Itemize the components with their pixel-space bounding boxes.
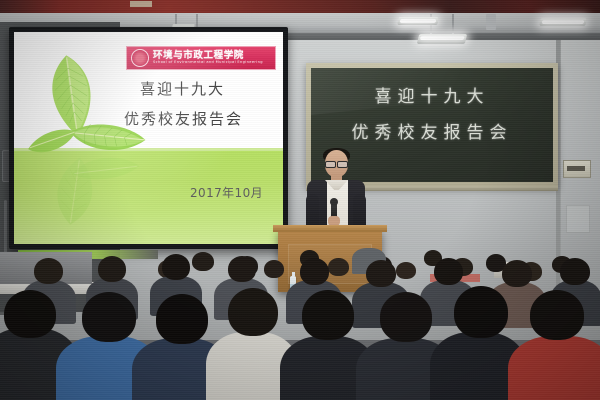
- fluorescent-lamp-4: [539, 18, 586, 26]
- banner-english-text: School of Environmental and Municipal En…: [153, 61, 263, 65]
- fluorescent-lamp-3: [397, 17, 438, 25]
- audience-head-front: [156, 294, 208, 344]
- lecture-hall-photo: 环境与市政工程学院 School of Environmental and Mu…: [0, 0, 600, 400]
- projector-screen-frame: 环境与市政工程学院 School of Environmental and Mu…: [9, 27, 288, 249]
- audience-head: [228, 256, 256, 282]
- audience-head-front: [380, 292, 432, 342]
- audience-head: [328, 258, 349, 276]
- student-audience: [0, 232, 600, 400]
- slide-title-line-1: 喜迎十九大: [140, 78, 274, 99]
- audience-head: [396, 262, 416, 279]
- wall-switch-box: [563, 160, 591, 178]
- slide-date: 2017年10月: [190, 184, 263, 201]
- audience-head-front: [530, 290, 584, 340]
- ceiling-mount: [486, 14, 496, 30]
- audience-head: [264, 260, 284, 278]
- blackboard-line-2: 优秀校友报告会: [311, 118, 553, 143]
- school-banner: 环境与市政工程学院 School of Environmental and Mu…: [126, 46, 276, 70]
- audience-head: [560, 258, 590, 285]
- audience-head-front: [454, 286, 508, 338]
- audience-head-front: [228, 288, 278, 336]
- slide-title-line-2: 优秀校友报告会: [124, 108, 274, 129]
- audience-head: [366, 260, 396, 287]
- slide-title: 喜迎十九大 优秀校友报告会: [124, 78, 274, 129]
- projector-screen: 环境与市政工程学院 School of Environmental and Mu…: [14, 32, 283, 244]
- audience-head: [300, 258, 329, 285]
- blackboard-line-1: 喜迎十九大: [311, 82, 553, 107]
- audience-head-front: [302, 290, 354, 340]
- audience-head: [502, 260, 532, 287]
- university-seal-icon: [131, 49, 149, 67]
- eyeglasses-icon: [325, 161, 348, 166]
- lamp-rod-4: [452, 14, 454, 36]
- audience-shoulder-front: [508, 336, 600, 400]
- audience-head-front: [4, 290, 56, 338]
- audience-head: [98, 256, 126, 282]
- audience-head: [34, 258, 63, 284]
- ceiling-red-strip: [0, 0, 600, 14]
- audience-head-front: [82, 292, 136, 342]
- wall-notice: [566, 205, 590, 233]
- fluorescent-lamp-2: [417, 34, 467, 44]
- audience-head: [434, 258, 463, 285]
- audience-head: [162, 254, 190, 280]
- podium-top: [273, 225, 387, 232]
- audience-head: [192, 252, 214, 271]
